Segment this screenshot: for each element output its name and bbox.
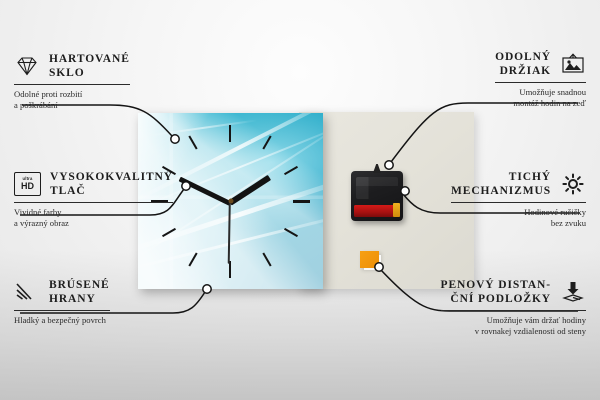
feature-divider <box>14 202 173 203</box>
connector-node-edges[interactable] <box>203 285 211 293</box>
feature-ground-edges[interactable]: BRÚSENÉ HRANY Hladký a bezpečný povrch <box>14 278 110 326</box>
feature-desc-line: v rovnakej vzdialenosti od steny <box>441 326 586 337</box>
feature-desc-line: Hodinové ručičky <box>451 207 586 218</box>
ground-edges-icon <box>14 280 40 304</box>
gear-icon <box>560 172 586 196</box>
feature-title-line: VYSOKOKVALITNÝ <box>50 170 173 184</box>
feature-divider <box>441 310 586 311</box>
feature-title-line: ČNÍ PODLOŽKY <box>441 292 551 306</box>
feature-title: HARTOVANÉ SKLO <box>49 52 130 80</box>
feature-desc-line: Odolné proti rozbití <box>14 89 130 100</box>
feature-divider <box>495 82 586 83</box>
feature-title: VYSOKOKVALITNÝ TLAČ <box>50 170 173 198</box>
feature-desc-line: a poškrábání <box>14 100 130 111</box>
feature-desc-line: a výrazný obraz <box>14 218 173 229</box>
connector-node-glass[interactable] <box>171 135 179 143</box>
feature-title-line: MECHANIZMUS <box>451 184 551 198</box>
connector-node-mechanism[interactable] <box>401 187 409 195</box>
feature-tempered-glass[interactable]: HARTOVANÉ SKLO Odolné proti rozbití a po… <box>14 52 130 111</box>
feature-title-line: DRŽIAK <box>495 64 551 78</box>
feature-heading: BRÚSENÉ HRANY <box>14 278 110 306</box>
feature-title-line: HARTOVANÉ <box>49 52 130 66</box>
feature-title-line: SKLO <box>49 66 130 80</box>
feature-title-line: PENOVÝ DISTAN- <box>441 278 551 292</box>
feature-foam-spacers[interactable]: PENOVÝ DISTAN- ČNÍ PODLOŽKY Umožňuje vám… <box>441 278 586 337</box>
feature-title: PENOVÝ DISTAN- ČNÍ PODLOŽKY <box>441 278 551 306</box>
diamond-icon <box>14 54 40 78</box>
feature-title: ODOLNÝ DRŽIAK <box>495 50 551 78</box>
feature-desc-line: Umožňuje vám držať hodiny <box>441 315 586 326</box>
connector-node-print[interactable] <box>182 182 190 190</box>
feature-heading: ultra HD VYSOKOKVALITNÝ TLAČ <box>14 170 173 198</box>
feature-desc-line: bez zvuku <box>451 218 586 229</box>
feature-divider <box>14 84 130 85</box>
feature-title-line: BRÚSENÉ <box>49 278 110 292</box>
connector-line-holder <box>391 103 578 162</box>
feature-title: TICHÝ MECHANIZMUS <box>451 170 551 198</box>
connector-node-holder[interactable] <box>385 161 393 169</box>
feature-heading: PENOVÝ DISTAN- ČNÍ PODLOŽKY <box>441 278 586 306</box>
connector-node-foam[interactable] <box>375 263 383 271</box>
feature-desc-line: Umožňuje snadnou <box>495 87 586 98</box>
ultra-hd-icon-main-text: HD <box>21 182 34 191</box>
feature-title-line: TLAČ <box>50 184 173 198</box>
feature-title-line: HRANY <box>49 292 110 306</box>
feature-title: BRÚSENÉ HRANY <box>49 278 110 306</box>
feature-heading: TICHÝ MECHANIZMUS <box>451 170 586 198</box>
feature-desc-line: Vividné farby <box>14 207 173 218</box>
ultra-hd-icon: ultra HD <box>14 172 41 196</box>
feature-silent-mechanism[interactable]: TICHÝ MECHANIZMUS Hodinové ručičky bez z… <box>451 170 586 229</box>
feature-heading: HARTOVANÉ SKLO <box>14 52 130 80</box>
feature-title-line: TICHÝ <box>451 170 551 184</box>
feature-divider <box>14 310 110 311</box>
feature-divider <box>451 202 586 203</box>
feature-heading: ODOLNÝ DRŽIAK <box>495 50 586 78</box>
feature-desc-line: montáž hodin na zeď <box>495 98 586 109</box>
feature-durable-holder[interactable]: ODOLNÝ DRŽIAK Umožňuje snadnou montáž ho… <box>495 50 586 109</box>
picture-hanger-icon <box>560 52 586 76</box>
foam-spacer-icon <box>560 280 586 304</box>
feature-title-line: ODOLNÝ <box>495 50 551 64</box>
feature-desc-line: Hladký a bezpečný povrch <box>14 315 110 326</box>
infographic-canvas: HARTOVANÉ SKLO Odolné proti rozbití a po… <box>0 0 600 400</box>
feature-high-quality-print[interactable]: ultra HD VYSOKOKVALITNÝ TLAČ Vividné far… <box>14 170 173 229</box>
